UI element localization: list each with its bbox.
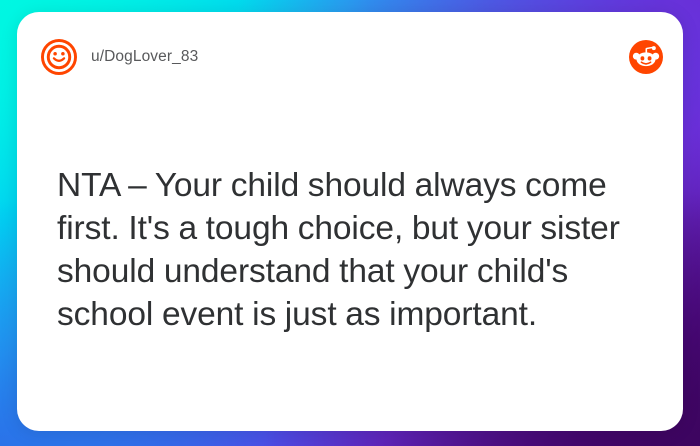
username-label: u/DogLover_83 bbox=[91, 48, 198, 66]
screenshot-root: u/DogLover_83 bbox=[0, 0, 700, 446]
reddit-comment-card: u/DogLover_83 bbox=[17, 12, 683, 431]
comment-header: u/DogLover_83 bbox=[17, 12, 683, 102]
reddit-snoo-logo-icon[interactable] bbox=[629, 40, 663, 74]
smiley-face-avatar-icon[interactable] bbox=[40, 38, 78, 76]
comment-text: NTA – Your child should always come firs… bbox=[57, 164, 657, 336]
